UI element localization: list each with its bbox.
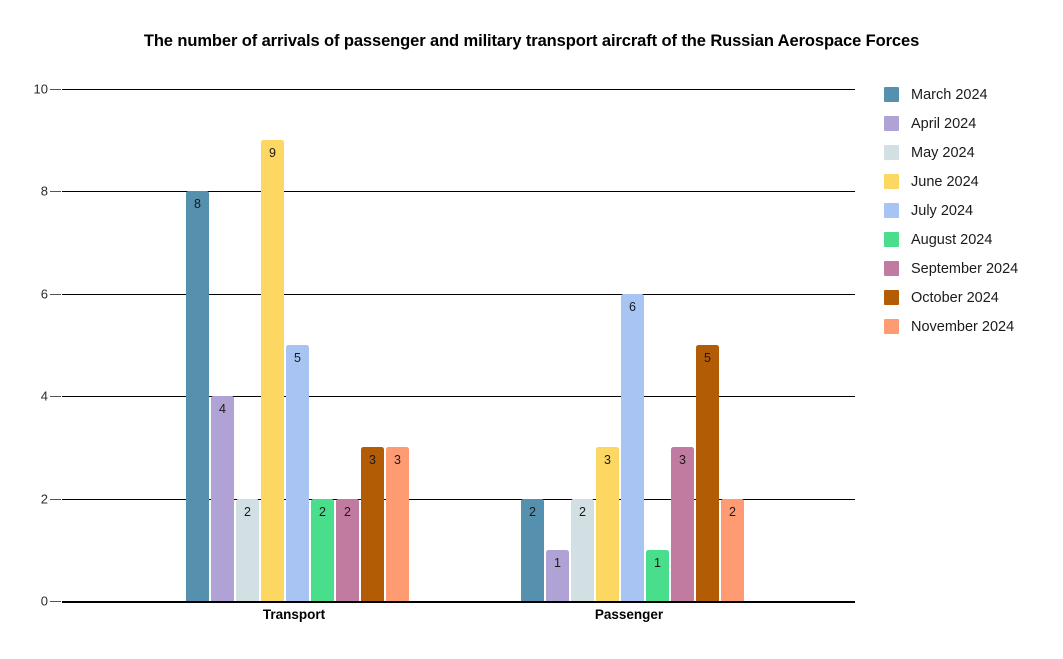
legend-item[interactable]: April 2024 [884, 109, 1059, 138]
legend-swatch-icon [884, 116, 899, 131]
legend-label: May 2024 [911, 145, 975, 161]
bar-value-label: 3 [671, 453, 694, 467]
y-axis-tick-label: 4 [0, 389, 48, 404]
bar[interactable]: 2 [571, 499, 594, 601]
bar-group: 212361352 [521, 89, 746, 601]
bar[interactable]: 2 [336, 499, 359, 601]
legend-label: July 2024 [911, 203, 973, 219]
y-axis-tick-label: 6 [0, 286, 48, 301]
plot-area: 842952233212361352 [62, 89, 855, 601]
bar[interactable]: 2 [236, 499, 259, 601]
y-axis-tick-label: 0 [0, 594, 48, 609]
legend-label: October 2024 [911, 290, 999, 306]
legend-swatch-icon [884, 174, 899, 189]
bar[interactable]: 6 [621, 294, 644, 601]
y-axis-tick-label: 2 [0, 491, 48, 506]
bar-value-label: 2 [571, 505, 594, 519]
bar-group: 842952233 [186, 89, 411, 601]
bar[interactable]: 3 [386, 447, 409, 601]
bar[interactable]: 2 [311, 499, 334, 601]
chart-title: The number of arrivals of passenger and … [0, 32, 1063, 51]
bar[interactable]: 2 [521, 499, 544, 601]
legend-item[interactable]: August 2024 [884, 225, 1059, 254]
bar[interactable]: 5 [286, 345, 309, 601]
legend-swatch-icon [884, 145, 899, 160]
legend-item[interactable]: March 2024 [884, 80, 1059, 109]
y-axis-tick-mark [50, 601, 61, 602]
bar-chart: The number of arrivals of passenger and … [0, 0, 1063, 659]
bar-value-label: 3 [361, 453, 384, 467]
legend: March 2024April 2024May 2024June 2024Jul… [884, 80, 1059, 341]
legend-item[interactable]: October 2024 [884, 283, 1059, 312]
bar[interactable]: 1 [646, 550, 669, 601]
legend-swatch-icon [884, 319, 899, 334]
y-axis-tick-labels: 0246810 [0, 89, 48, 601]
y-axis-tick-label: 8 [0, 184, 48, 199]
bar[interactable]: 9 [261, 140, 284, 601]
legend-item[interactable]: May 2024 [884, 138, 1059, 167]
bar-value-label: 4 [211, 402, 234, 416]
y-axis-tick-mark [50, 294, 61, 295]
legend-item[interactable]: June 2024 [884, 167, 1059, 196]
legend-label: November 2024 [911, 319, 1014, 335]
y-axis-tick-mark [50, 89, 61, 90]
legend-item[interactable]: September 2024 [884, 254, 1059, 283]
legend-item[interactable]: November 2024 [884, 312, 1059, 341]
y-axis-tick-mark [50, 191, 61, 192]
bar-value-label: 1 [646, 556, 669, 570]
bar[interactable]: 5 [696, 345, 719, 601]
x-axis-category-label: Transport [263, 607, 325, 622]
y-axis-tick-mark [50, 499, 61, 500]
legend-swatch-icon [884, 87, 899, 102]
bar-value-label: 3 [596, 453, 619, 467]
bar[interactable]: 3 [361, 447, 384, 601]
bar[interactable]: 2 [721, 499, 744, 601]
y-axis-tick-marks [50, 89, 62, 601]
bar-value-label: 2 [521, 505, 544, 519]
legend-swatch-icon [884, 261, 899, 276]
legend-label: August 2024 [911, 232, 992, 248]
legend-swatch-icon [884, 290, 899, 305]
bar-value-label: 1 [546, 556, 569, 570]
bar[interactable]: 8 [186, 191, 209, 601]
bar-value-label: 2 [311, 505, 334, 519]
x-axis-category-label: Passenger [595, 607, 663, 622]
bar[interactable]: 4 [211, 396, 234, 601]
legend-label: March 2024 [911, 87, 988, 103]
gridline [62, 601, 855, 603]
bar-value-label: 2 [336, 505, 359, 519]
legend-label: April 2024 [911, 116, 976, 132]
y-axis-tick-label: 10 [0, 82, 48, 97]
bar[interactable]: 3 [596, 447, 619, 601]
bar-value-label: 5 [696, 351, 719, 365]
legend-swatch-icon [884, 232, 899, 247]
legend-label: June 2024 [911, 174, 979, 190]
legend-swatch-icon [884, 203, 899, 218]
bar-value-label: 6 [621, 300, 644, 314]
bar-value-label: 8 [186, 197, 209, 211]
y-axis-tick-mark [50, 396, 61, 397]
legend-item[interactable]: July 2024 [884, 196, 1059, 225]
bar-value-label: 3 [386, 453, 409, 467]
bar-value-label: 2 [721, 505, 744, 519]
legend-label: September 2024 [911, 261, 1018, 277]
bar[interactable]: 1 [546, 550, 569, 601]
bar-value-label: 9 [261, 146, 284, 160]
bar-value-label: 2 [236, 505, 259, 519]
bar[interactable]: 3 [671, 447, 694, 601]
bar-value-label: 5 [286, 351, 309, 365]
